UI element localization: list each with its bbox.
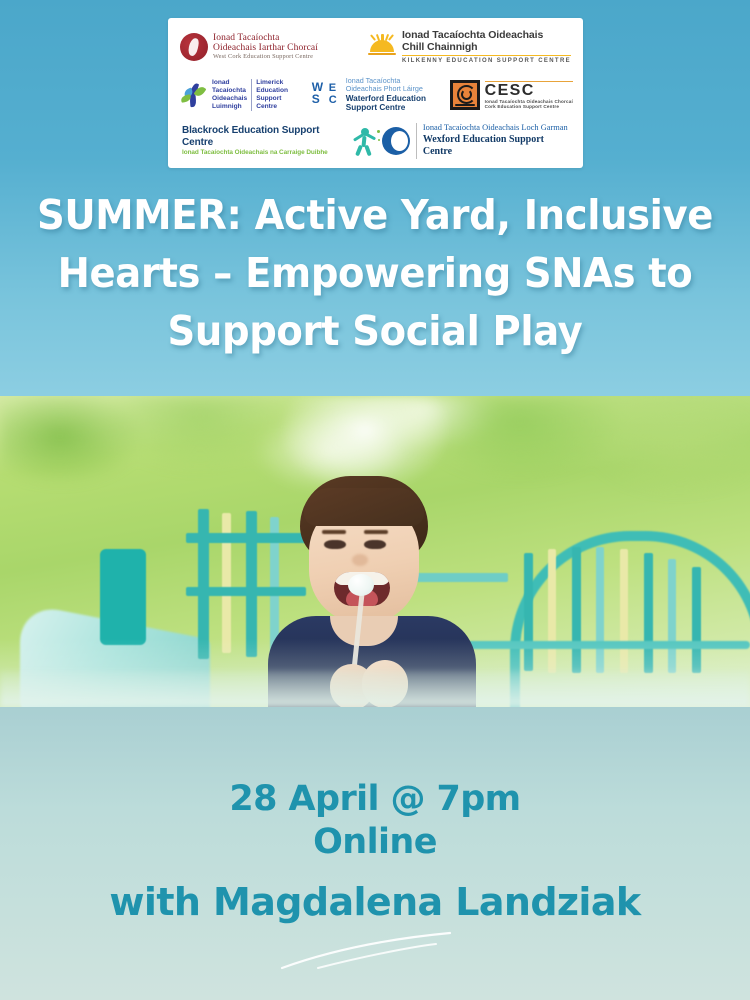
event-details: 28 April @ 7pm Online xyxy=(0,778,750,864)
wesc-monogram-icon: WSEC xyxy=(312,81,342,109)
title-line-1: SUMMER: Active Yard, Inclusive xyxy=(23,186,728,244)
blackrock-text: Blackrock Education Support Centre Ionad… xyxy=(182,125,346,157)
limerick-text: Ionad Tacaíochta Oideachais Luimnigh Lim… xyxy=(212,79,288,110)
blackrock-line1: Blackrock Education Support Centre xyxy=(182,125,346,149)
cesc-line1: CESC xyxy=(485,83,573,100)
event-location: Online xyxy=(0,820,750,864)
poster-title: SUMMER: Active Yard, Inclusive Hearts – … xyxy=(23,186,728,360)
logo-kilkenny: Ionad Tacaíochta Oideachais Chill Chainn… xyxy=(367,29,571,65)
wexford-crescent-icon xyxy=(382,127,410,155)
limerick-irish-2: Tacaíochta xyxy=(212,87,247,95)
kilkenny-line3: KILKENNY EDUCATION SUPPORT CENTRE xyxy=(402,58,571,65)
west-cork-line3: West Cork Education Support Centre xyxy=(213,54,318,61)
logo-limerick: Ionad Tacaíochta Oideachais Luimnigh Lim… xyxy=(178,79,288,110)
photo-overlay xyxy=(0,396,750,707)
waterford-line2: Oideachais Phort Láirge xyxy=(346,85,426,93)
event-presenter: with Magdalena Landziak xyxy=(0,880,750,924)
waterford-line4: Support Centre xyxy=(346,103,426,113)
running-figure-icon xyxy=(348,126,382,156)
limerick-english-3: Support xyxy=(256,95,288,103)
wexford-text: Ionad Tacaíochta Oideachais Loch Garman … xyxy=(416,123,569,159)
kilkenny-text: Ionad Tacaíochta Oideachais Chill Chainn… xyxy=(402,29,571,65)
limerick-leaf-icon xyxy=(178,82,208,108)
logo-row-3: Blackrock Education Support Centre Ionad… xyxy=(168,118,583,162)
cesc-line3: Cork Education Support Centre xyxy=(485,105,573,110)
event-datetime: 28 April @ 7pm xyxy=(0,778,750,820)
partner-logos-panel: Ionad Tacaíochta Oideachais Iarthar Chor… xyxy=(168,18,583,168)
waterford-line3: Waterford Education xyxy=(346,94,426,104)
logo-cesc: CESC Ionad Tacaíochta Oideachais Chorcaí… xyxy=(450,80,573,110)
logo-row-2: Ionad Tacaíochta Oideachais Luimnigh Lim… xyxy=(168,70,583,118)
logo-waterford: WSEC Ionad Tacaíochta Oideachais Phort L… xyxy=(312,77,426,113)
limerick-english-4: Centre xyxy=(256,103,288,111)
limerick-english: Limerick Education Support Centre xyxy=(251,79,288,110)
logo-west-cork: Ionad Tacaíochta Oideachais Iarthar Chor… xyxy=(180,33,318,61)
limerick-english-2: Education xyxy=(256,87,288,95)
cesc-text: CESC Ionad Tacaíochta Oideachais Chorcaí… xyxy=(485,81,573,110)
blackrock-line2: Ionad Tacaíochta Oideachais na Carraige … xyxy=(182,149,346,157)
west-cork-line2: Oideachais Iarthar Chorcaí xyxy=(213,43,318,53)
logo-wexford: Ionad Tacaíochta Oideachais Loch Garman … xyxy=(382,123,569,159)
playground-photo xyxy=(0,396,750,707)
wexford-line2: Wexford Education Support Centre xyxy=(423,134,569,159)
west-cork-icon xyxy=(180,33,208,61)
limerick-irish-3: Oideachais xyxy=(212,95,247,103)
limerick-irish-4: Luimnigh xyxy=(212,103,247,111)
title-line-2: Hearts – Empowering SNAs to xyxy=(23,244,728,302)
limerick-irish-1: Ionad xyxy=(212,79,247,87)
sun-icon xyxy=(367,31,397,55)
kilkenny-divider xyxy=(402,55,571,56)
cesc-spiral-icon xyxy=(450,80,480,110)
kilkenny-line2: Chill Chainnigh xyxy=(402,41,571,53)
title-line-3: Support Social Play xyxy=(23,302,728,360)
logo-blackrock: Blackrock Education Support Centre Ionad… xyxy=(182,125,382,157)
kilkenny-line1: Ionad Tacaíochta Oideachais xyxy=(402,29,571,41)
event-poster: Ionad Tacaíochta Oideachais Iarthar Chor… xyxy=(0,0,750,1000)
limerick-english-1: Limerick xyxy=(256,79,288,87)
limerick-irish: Ionad Tacaíochta Oideachais Luimnigh xyxy=(212,79,251,110)
west-cork-line1: Ionad Tacaíochta xyxy=(213,33,318,43)
west-cork-text: Ionad Tacaíochta Oideachais Iarthar Chor… xyxy=(213,33,318,61)
wexford-line1: Ionad Tacaíochta Oideachais Loch Garman xyxy=(423,123,569,134)
waterford-text: Ionad Tacaíochta Oideachais Phort Láirge… xyxy=(346,77,426,113)
logo-row-1: Ionad Tacaíochta Oideachais Iarthar Chor… xyxy=(168,18,583,70)
